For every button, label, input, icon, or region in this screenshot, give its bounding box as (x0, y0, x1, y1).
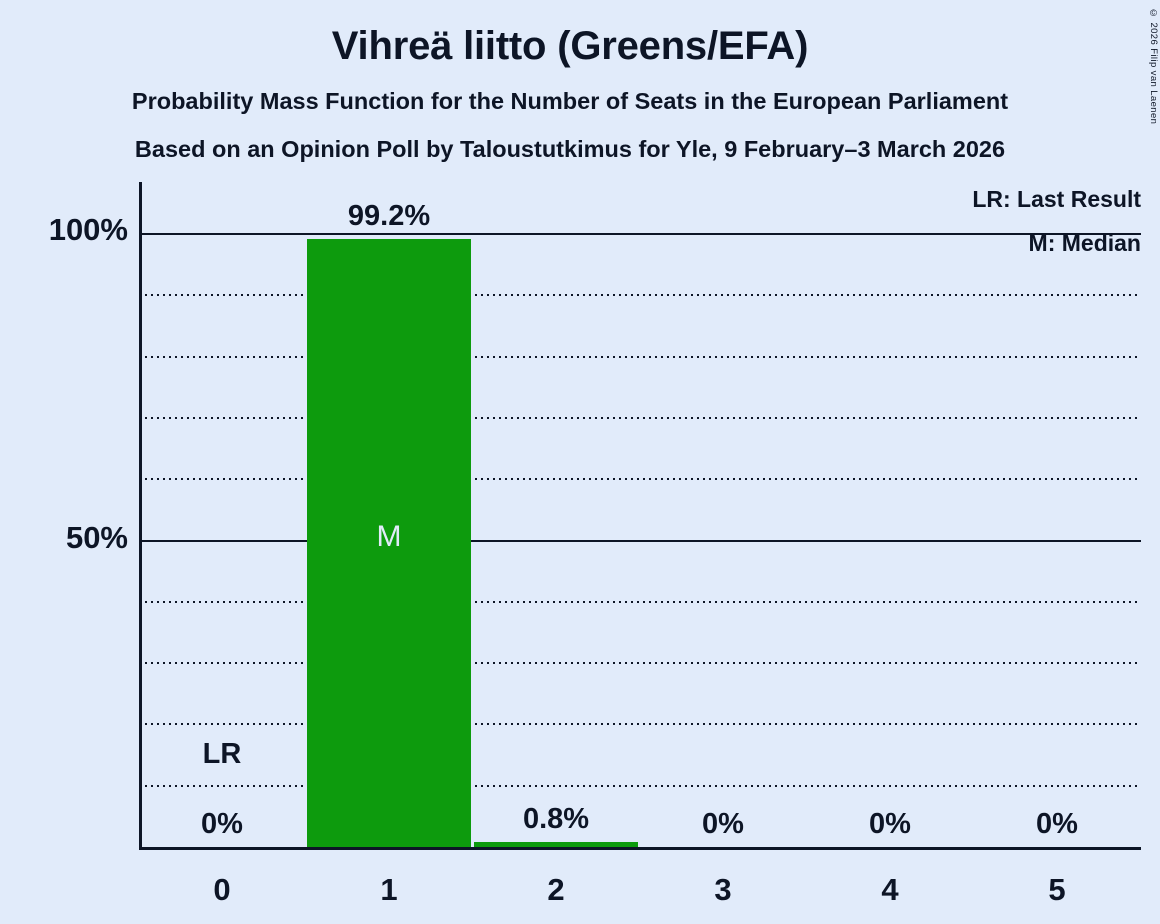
x-tick-label-1: 1 (307, 872, 471, 908)
bar-value-label-seat-1: 99.2% (277, 200, 501, 233)
y-tick-label: 50% (0, 520, 128, 556)
gridline-dotted (139, 478, 1141, 480)
x-tick-label-4: 4 (808, 872, 972, 908)
median-marker: M (307, 520, 471, 554)
bar-value-label-seat-0: 0% (110, 808, 334, 841)
x-tick-label-0: 0 (140, 872, 304, 908)
gridline-solid (139, 233, 1141, 235)
page-title: Vihreä liitto (Greens/EFA) (0, 24, 1140, 69)
gridline-dotted (139, 723, 1141, 725)
x-tick-label-3: 3 (641, 872, 805, 908)
bar-value-label-seat-5: 0% (945, 808, 1160, 841)
y-tick-label: 100% (0, 212, 128, 248)
gridline-dotted (139, 294, 1141, 296)
gridline-dotted (139, 662, 1141, 664)
chart-subtitle-primary: Probability Mass Function for the Number… (0, 88, 1140, 115)
copyright-notice: © 2026 Filip van Laenen (1148, 8, 1159, 124)
x-tick-label-2: 2 (474, 872, 638, 908)
gridline-dotted (139, 601, 1141, 603)
chart-subtitle-secondary: Based on an Opinion Poll by Taloustutkim… (0, 136, 1140, 163)
gridline-dotted (139, 417, 1141, 419)
gridline-dotted (139, 356, 1141, 358)
gridline-solid (139, 540, 1141, 542)
bar-seat-2[interactable] (474, 842, 638, 847)
x-axis-line (139, 847, 1141, 850)
chart-canvas: Vihreä liitto (Greens/EFA) Probability M… (0, 0, 1160, 924)
x-tick-label-5: 5 (975, 872, 1139, 908)
gridline-dotted (139, 785, 1141, 787)
last-result-marker: LR (140, 738, 304, 771)
